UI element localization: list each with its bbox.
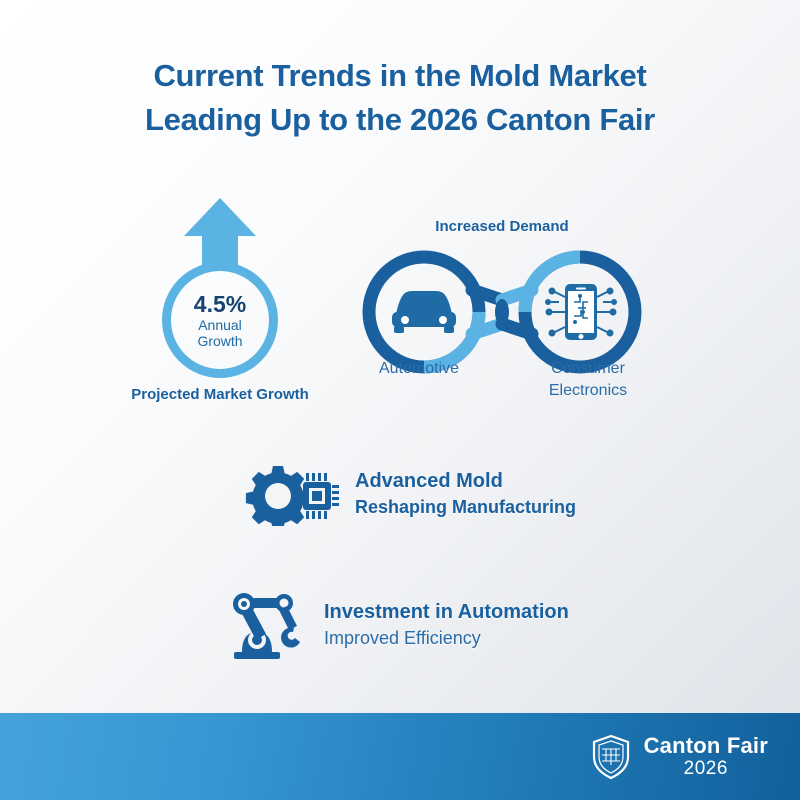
footer-bar: Canton Fair 2026 <box>0 713 800 800</box>
brand-name: Canton Fair <box>644 733 768 758</box>
feature-row-advanced-mold: Advanced Mold Reshaping Manufacturing <box>243 462 576 526</box>
feature-title: Investment in Automation <box>324 599 569 626</box>
brand-lockup: Canton Fair 2026 <box>590 733 768 781</box>
smartphone-circuit-icon <box>545 284 617 340</box>
title-line-1: Current Trends in the Mold Market <box>0 54 800 98</box>
feature-text-advanced-mold: Advanced Mold Reshaping Manufacturing <box>355 468 576 520</box>
growth-percent: 4.5% <box>194 292 246 316</box>
demand-label-line-1: Consumer <box>508 358 668 380</box>
brand-year: 2026 <box>684 758 728 780</box>
brand-text: Canton Fair 2026 <box>644 733 768 780</box>
growth-sub-line-2: Growth <box>197 333 242 349</box>
gear-microchip-icon <box>243 462 339 526</box>
infographic-poster: Current Trends in the Mold Market Leadin… <box>0 0 800 800</box>
title-line-2: Leading Up to the 2026 Canton Fair <box>0 98 800 142</box>
growth-caption: Projected Market Growth <box>131 386 309 403</box>
demand-label-line-2: Electronics <box>508 380 668 402</box>
demand-label-automotive: Automotive <box>344 358 494 380</box>
page-title: Current Trends in the Mold Market Leadin… <box>0 54 800 142</box>
demand-heading: Increased Demand <box>352 218 652 235</box>
feature-title: Advanced Mold <box>355 468 576 495</box>
shield-logo-icon <box>590 733 632 781</box>
feature-row-automation: Investment in Automation Improved Effici… <box>228 590 569 660</box>
feature-subtitle: Improved Efficiency <box>324 626 569 651</box>
car-icon <box>392 291 456 333</box>
feature-subtitle: Reshaping Manufacturing <box>355 495 576 520</box>
increased-demand-block: Increased Demand <box>352 218 652 413</box>
robot-arm-icon <box>228 590 308 660</box>
feature-text-automation: Investment in Automation Improved Effici… <box>324 599 569 651</box>
growth-sub-line-1: Annual <box>198 317 242 333</box>
arrow-up-icon <box>182 196 258 268</box>
projected-growth-block: 4.5% Annual Growth Projected Market Grow… <box>112 196 328 408</box>
demand-label-consumer-electronics: Consumer Electronics <box>508 358 668 402</box>
growth-ring: 4.5% Annual Growth <box>162 262 278 378</box>
